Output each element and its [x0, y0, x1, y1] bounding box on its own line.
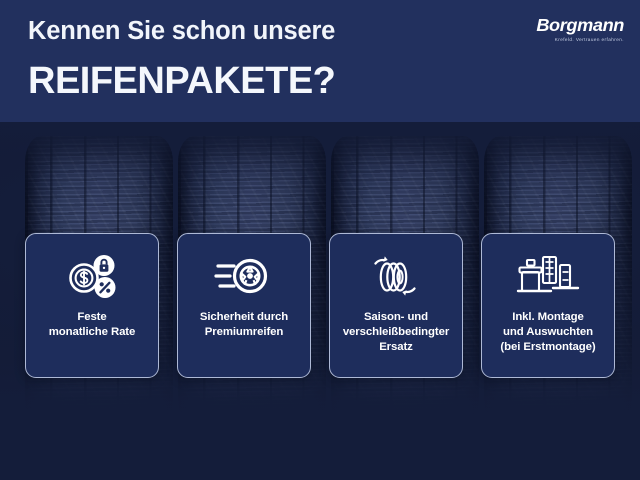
feature-card-fixed-rate[interactable]: Feste monatliche Rate: [25, 233, 159, 378]
feature-card-premium-safety[interactable]: Sicherheit durch Premiumreifen: [177, 233, 311, 378]
feature-card-label: Sicherheit durch Premiumreifen: [195, 310, 293, 340]
card4-line3: (bei Erstmontage): [500, 341, 595, 353]
tire-mounting-machine-icon: [511, 248, 585, 304]
card4-line1: Inkl. Montage: [512, 311, 583, 323]
wheel-speed-icon: [207, 248, 281, 304]
card3-line3: Ersatz: [379, 341, 413, 353]
card2-line1: Sicherheit durch: [200, 311, 288, 323]
headline-line-1: Kennen Sie schon unsere: [28, 14, 488, 48]
feature-card-label: Saison- und verschleißbedingter Ersatz: [338, 310, 454, 355]
card1-line1: Feste: [77, 311, 106, 323]
card3-line2: verschleißbedingter: [343, 326, 449, 338]
card3-line1: Saison- und: [364, 311, 428, 323]
page-title: REIFENPAKETE?: [28, 55, 488, 107]
tire-package-banner: Kennen Sie schon unsere REIFENPAKETE? Bo…: [0, 0, 640, 480]
headline-block: Kennen Sie schon unsere REIFENPAKETE?: [28, 14, 488, 107]
feature-card-mounting-balancing[interactable]: Inkl. Montage und Auswuchten (bei Erstmo…: [481, 233, 615, 378]
borgmann-logo[interactable]: Borgmann Krefeld. Vertrauen erfahren.: [520, 16, 624, 48]
logo-wordmark: Borgmann: [516, 16, 624, 35]
feature-card-seasonal-replacement[interactable]: Saison- und verschleißbedingter Ersatz: [329, 233, 463, 378]
card4-line2: und Auswuchten: [503, 326, 593, 338]
feature-card-label: Feste monatliche Rate: [44, 310, 140, 340]
feature-card-row: Feste monatliche Rate Sicherheit durch P…: [0, 233, 640, 378]
feature-card-label: Inkl. Montage und Auswuchten (bei Erstmo…: [495, 310, 600, 355]
logo-tagline: Krefeld. Vertrauen erfahren.: [520, 36, 624, 44]
coin-lock-percent-icon: [55, 248, 129, 304]
card1-line2: monatliche Rate: [49, 326, 135, 338]
card2-line2: Premiumreifen: [205, 326, 283, 338]
tire-stack-rotation-icon: [359, 248, 433, 304]
